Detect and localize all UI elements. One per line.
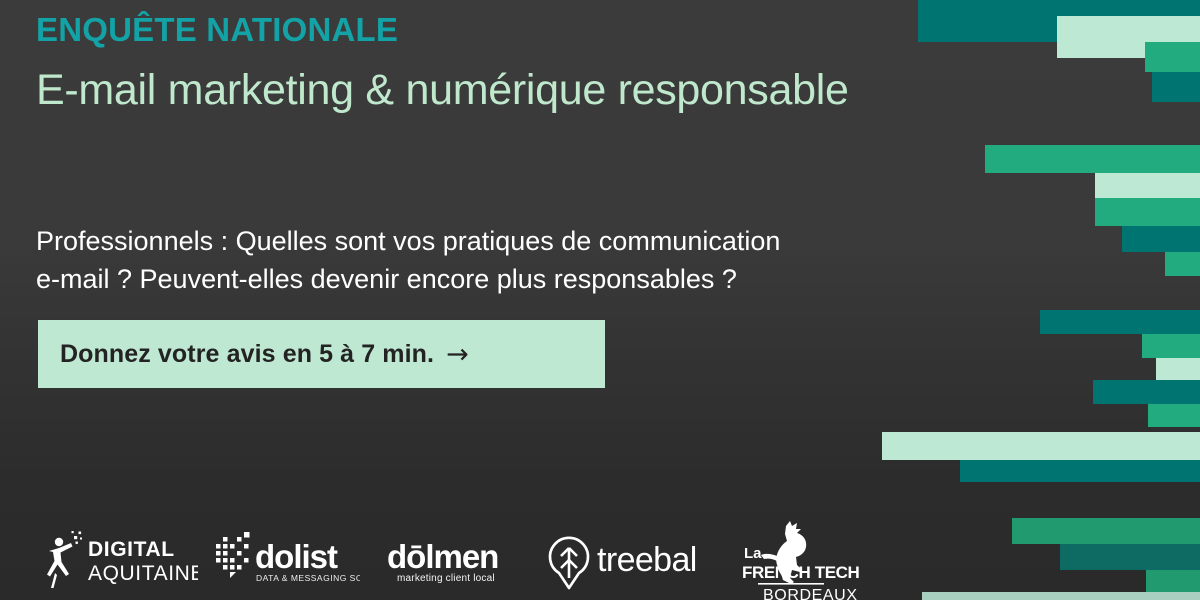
decor-bar [1146, 570, 1200, 592]
logo-dolmen-tagline: marketing client local [397, 573, 495, 584]
decor-bar [1142, 334, 1200, 358]
french-tech-divider [758, 583, 824, 585]
dolist-dot-matrix [216, 532, 250, 578]
logo-digital-aquitaine[interactable]: DIGITAL AQUITAINE [38, 520, 198, 600]
decor-bar [1145, 42, 1200, 72]
logo-treebal-wordmark: treebal [597, 541, 697, 579]
banner-content: ENQUÊTE NATIONALE E-mail marketing & num… [0, 0, 900, 600]
logo-dolist-tagline: DATA & MESSAGING SOLUTIONS [256, 573, 360, 583]
logo-dolmen[interactable]: dōlmen marketing client local [385, 520, 520, 600]
decor-bar [1148, 404, 1200, 427]
survey-banner: ENQUÊTE NATIONALE E-mail marketing & num… [0, 0, 1200, 600]
description-line-2: e-mail ? Peuvent-elles devenir encore pl… [36, 260, 936, 298]
banner-headline: E-mail marketing & numérique responsable [36, 66, 849, 115]
banner-eyebrow: ENQUÊTE NATIONALE [36, 12, 398, 48]
digital-aquitaine-mark [47, 531, 82, 588]
decor-bar [1057, 16, 1200, 58]
decor-bar [1165, 252, 1200, 276]
logo-digital-aquitaine-line2: AQUITAINE [88, 562, 198, 585]
logo-dolmen-wordmark: dōlmen [387, 538, 498, 575]
arrow-right-icon: → [446, 341, 469, 368]
decor-bar [985, 145, 1200, 173]
logo-la-french-tech-bordeaux[interactable]: La FRENCH TECH BORDEAUX [730, 520, 860, 600]
logo-dolist-wordmark: dolist [255, 538, 338, 575]
decor-bar [1095, 173, 1200, 199]
decor-bar [922, 592, 1200, 600]
treebal-tree-pin-icon [550, 538, 588, 588]
take-survey-button[interactable]: Donnez votre avis en 5 à 7 min. → [38, 320, 605, 388]
partner-logos: DIGITAL AQUITAINE [30, 520, 860, 600]
banner-description: Professionnels : Quelles sont vos pratiq… [36, 222, 936, 299]
decor-bar [960, 460, 1200, 482]
cta-label: Donnez votre avis en 5 à 7 min. [60, 340, 434, 369]
logo-dolist[interactable]: dolist DATA & MESSAGING SOLUTIONS [215, 520, 360, 600]
decor-bar [1012, 518, 1200, 544]
decor-bar [918, 0, 1200, 42]
decor-bar [882, 432, 1200, 460]
decor-bar [1093, 380, 1200, 404]
logo-digital-aquitaine-line1: DIGITAL [88, 538, 175, 561]
decor-bar [1060, 544, 1200, 570]
decor-bar [1156, 358, 1200, 380]
decor-bar [1040, 310, 1200, 334]
logo-french-tech-line1: La [744, 545, 762, 562]
logo-french-tech-line2: FRENCH TECH [742, 563, 860, 582]
logo-treebal[interactable]: treebal [545, 520, 715, 600]
description-line-1: Professionnels : Quelles sont vos pratiq… [36, 222, 936, 260]
decor-bar [1122, 226, 1200, 252]
logo-french-tech-line3: BORDEAUX [763, 587, 858, 600]
decor-bar [1152, 72, 1200, 102]
decor-bar [1095, 198, 1200, 226]
